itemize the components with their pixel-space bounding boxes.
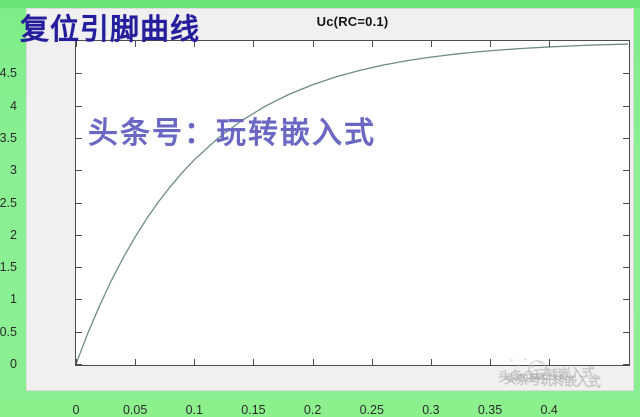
x-tick-mark [313, 359, 314, 365]
watermark-text-secondary: 头条号玩转嵌入式 [504, 368, 601, 390]
y-tick-label: 2 [0, 228, 17, 242]
x-tick-mark [431, 359, 432, 365]
x-tick-mark [490, 359, 491, 365]
x-tick-mark [76, 359, 77, 365]
x-tick-mark [135, 359, 136, 365]
x-tick-mark-top [549, 41, 550, 47]
x-tick-label: 0 [73, 403, 80, 417]
x-tick-label: 0.4 [541, 403, 558, 417]
page-title: 复位引脚曲线 [20, 6, 200, 48]
x-tick-label: 0.05 [123, 403, 147, 417]
overlay-caption: 头条号：玩转嵌入式 [88, 108, 376, 152]
matlab-figure-panel: Uc(RC=0.1) 00.511.522.533.544.5 00.050.1… [26, 8, 634, 391]
y-tick-label: 2.5 [0, 196, 17, 210]
x-tick-mark-top [313, 41, 314, 47]
x-tick-label: 0.2 [304, 403, 321, 417]
x-tick-mark-top [372, 41, 373, 47]
x-tick-label: 0.1 [186, 403, 203, 417]
y-tick-label: 4 [0, 99, 17, 113]
x-tick-mark [253, 359, 254, 365]
y-tick-label: 1.5 [0, 260, 17, 274]
plot-axes-box: 00.511.522.533.544.5 00.050.10.150.20.25… [75, 40, 630, 366]
x-tick-mark [372, 359, 373, 365]
x-tick-mark-top [253, 41, 254, 47]
y-tick-label: 4.5 [0, 66, 17, 80]
y-tick-label: 0.5 [0, 325, 17, 339]
y-tick-label: 1 [0, 292, 17, 306]
x-tick-label: 0.3 [422, 403, 439, 417]
y-tick-label: 3 [0, 163, 17, 177]
y-tick-label: 0 [0, 357, 17, 371]
x-tick-label: 0.25 [360, 403, 384, 417]
x-tick-mark-top [490, 41, 491, 47]
slide-root: Uc(RC=0.1) 00.511.522.533.544.5 00.050.1… [0, 0, 640, 400]
x-axis-ticks: 00.050.10.150.20.250.30.350.4 [76, 41, 629, 365]
x-tick-label: 0.15 [241, 403, 265, 417]
x-tick-label: 0.35 [478, 403, 502, 417]
x-tick-mark [194, 359, 195, 365]
x-tick-mark-top [431, 41, 432, 47]
y-tick-label: 3.5 [0, 131, 17, 145]
